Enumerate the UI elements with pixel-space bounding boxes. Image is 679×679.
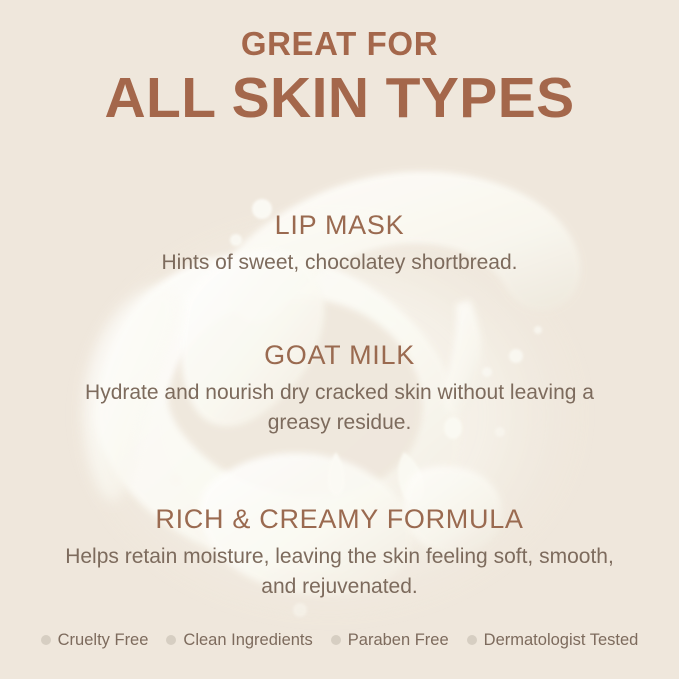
badge-label: Paraben Free xyxy=(348,632,449,649)
feature-description: Helps retain moisture, leaving the skin … xyxy=(0,542,679,602)
feature-lip-mask: LIP MASK Hints of sweet, chocolatey shor… xyxy=(0,209,679,278)
bullet-dot-icon xyxy=(166,635,176,645)
claims-badge-strip: Cruelty Free Clean Ingredients Paraben F… xyxy=(0,632,679,649)
product-feature-card: GREAT FOR ALL SKIN TYPES LIP MASK Hints … xyxy=(0,0,679,679)
feature-description: Hints of sweet, chocolatey shortbread. xyxy=(0,248,679,278)
badge-label: Cruelty Free xyxy=(58,632,149,649)
feature-description: Hydrate and nourish dry cracked skin wit… xyxy=(0,378,679,438)
badge-label: Dermatologist Tested xyxy=(484,632,639,649)
feature-title: RICH & CREAMY FORMULA xyxy=(0,503,679,535)
headline-line-1: GREAT FOR xyxy=(0,26,679,63)
feature-title: LIP MASK xyxy=(0,209,679,241)
bullet-dot-icon xyxy=(41,635,51,645)
badge-item: Clean Ingredients xyxy=(157,632,321,649)
feature-rich-creamy: RICH & CREAMY FORMULA Helps retain moist… xyxy=(0,503,679,602)
bullet-dot-icon xyxy=(331,635,341,645)
badge-label: Clean Ingredients xyxy=(183,632,312,649)
content-layer: GREAT FOR ALL SKIN TYPES LIP MASK Hints … xyxy=(0,0,679,679)
feature-title: GOAT MILK xyxy=(0,339,679,371)
badge-item: Dermatologist Tested xyxy=(458,632,648,649)
headline-block: GREAT FOR ALL SKIN TYPES xyxy=(0,26,679,131)
badge-item: Cruelty Free xyxy=(32,632,158,649)
badge-item: Paraben Free xyxy=(322,632,458,649)
headline-line-2: ALL SKIN TYPES xyxy=(0,67,679,131)
feature-goat-milk: GOAT MILK Hydrate and nourish dry cracke… xyxy=(0,339,679,438)
bullet-dot-icon xyxy=(467,635,477,645)
